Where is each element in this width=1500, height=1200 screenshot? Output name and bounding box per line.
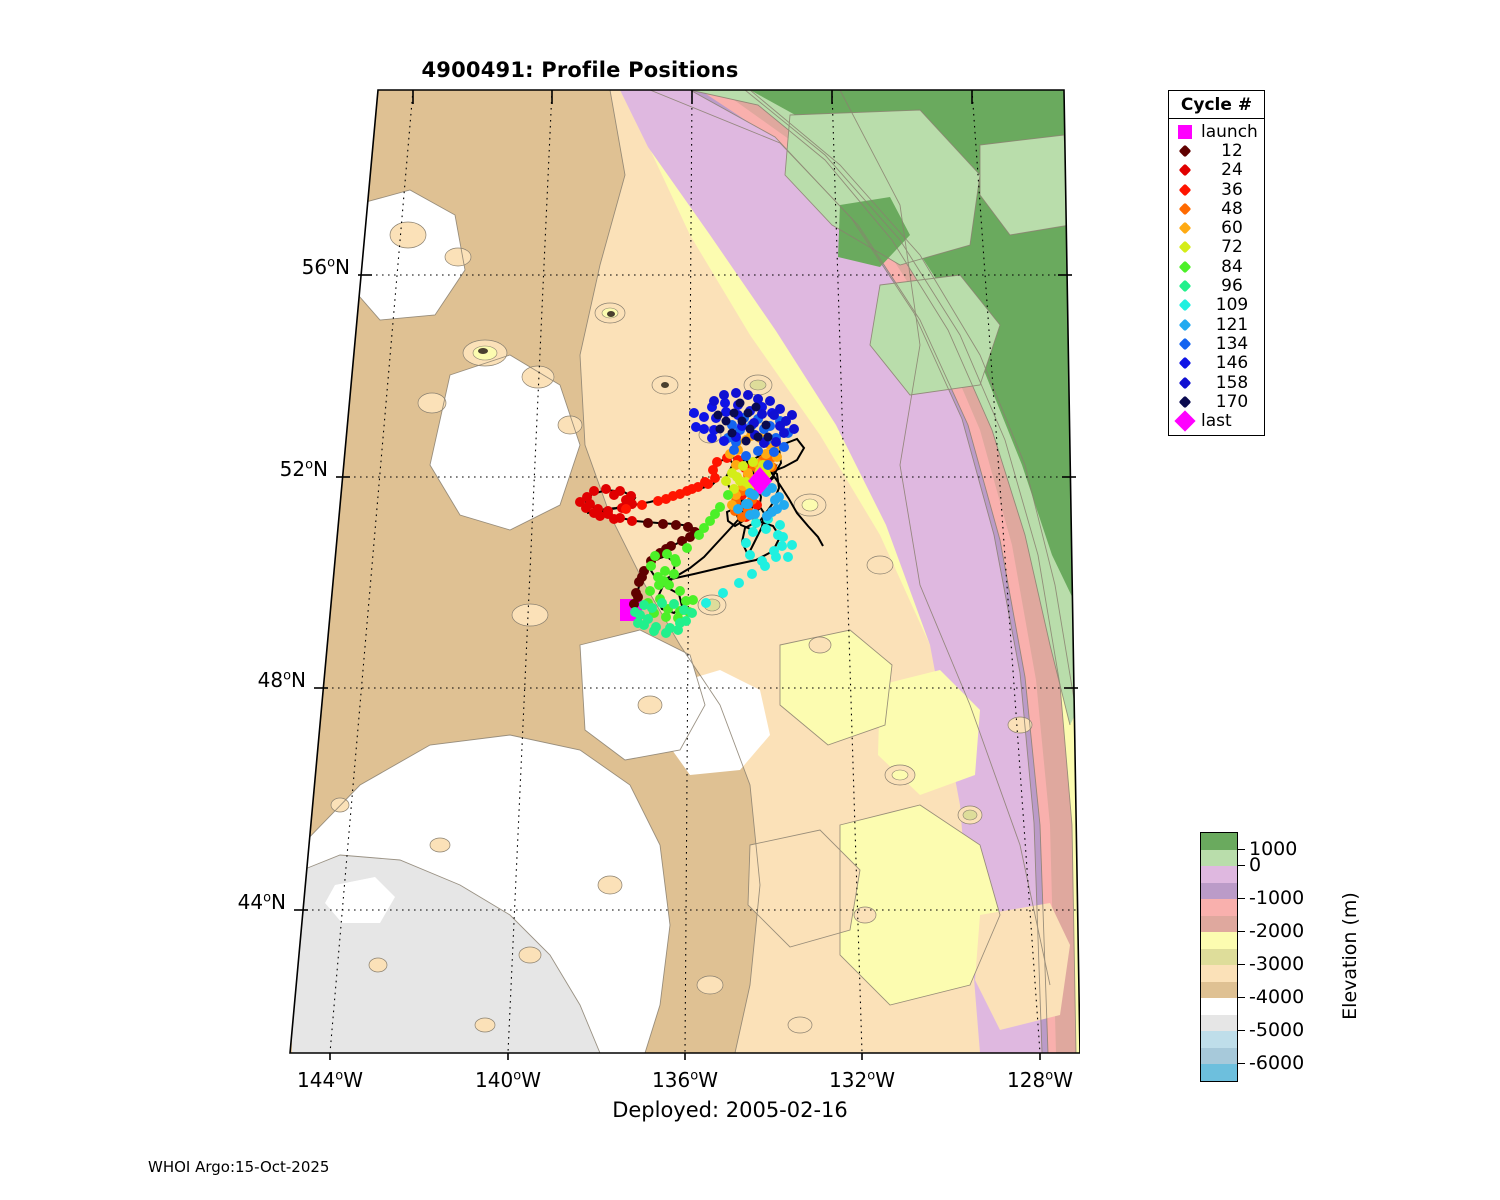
legend-item-84[interactable]: 84 <box>1169 257 1264 276</box>
colorbar-band-9 <box>1201 982 1237 999</box>
legend-label-170: 170 <box>1196 392 1264 412</box>
legend-marker-60 <box>1174 219 1196 238</box>
legend-marker-36 <box>1174 180 1196 199</box>
cycle-legend[interactable]: Cycle # launch12243648607284961091211341… <box>1168 90 1265 436</box>
lon-tick-132: 132oW <box>797 1068 927 1092</box>
legend-label-36: 36 <box>1196 180 1264 200</box>
colorbar-tick--5000 <box>1237 1030 1245 1031</box>
page-title: 4900491: Profile Positions <box>0 58 1160 82</box>
colorbar-band-10 <box>1201 998 1237 1015</box>
map-panel[interactable] <box>280 85 1080 1060</box>
legend-item-48[interactable]: 48 <box>1169 199 1264 218</box>
legend-label-launch: launch <box>1196 122 1264 142</box>
lon-tick-136: 136oW <box>620 1068 750 1092</box>
legend-item-12[interactable]: 12 <box>1169 141 1264 160</box>
colorbar-band-5 <box>1201 916 1237 933</box>
colorbar-tick--2000 <box>1237 931 1245 932</box>
legend-label-121: 121 <box>1196 315 1264 335</box>
lat-tick-48: 48oN <box>156 668 306 692</box>
legend-item-158[interactable]: 158 <box>1169 373 1264 392</box>
colorbar-tick-1000 <box>1237 849 1245 850</box>
credit-label: WHOI Argo:15-Oct-2025 <box>148 1158 329 1176</box>
colorbar-label--3000: -3000 <box>1249 953 1304 975</box>
legend-label-84: 84 <box>1196 257 1264 277</box>
legend-marker-96 <box>1174 277 1196 296</box>
legend-marker-48 <box>1174 199 1196 218</box>
elevation-colorbar[interactable]: 10000-1000-2000-3000-4000-5000-6000 Elev… <box>1200 832 1238 1082</box>
legend-item-96[interactable]: 96 <box>1169 276 1264 295</box>
colorbar-label-0: 0 <box>1249 854 1261 876</box>
colorbar-band-13 <box>1201 1048 1237 1065</box>
colorbar-band-11 <box>1201 1015 1237 1032</box>
colorbar-band-6 <box>1201 932 1237 949</box>
legend-marker-72 <box>1174 238 1196 257</box>
deployed-label: Deployed: 2005-02-16 <box>380 1098 1080 1122</box>
legend-title: Cycle # <box>1169 91 1264 119</box>
lat-tick-52: 52oN <box>178 457 328 481</box>
legend-label-12: 12 <box>1196 141 1264 161</box>
legend-label-72: 72 <box>1196 237 1264 257</box>
legend-marker-146 <box>1174 354 1196 373</box>
colorbar-tick--3000 <box>1237 964 1245 965</box>
legend-label-109: 109 <box>1196 295 1264 315</box>
legend-marker-last <box>1174 412 1196 431</box>
colorbar-band-4 <box>1201 899 1237 916</box>
legend-marker-launch <box>1174 122 1196 141</box>
legend-marker-12 <box>1174 141 1196 160</box>
legend-marker-24 <box>1174 161 1196 180</box>
lon-tick-128: 128oW <box>975 1068 1105 1092</box>
legend-marker-84 <box>1174 257 1196 276</box>
legend-marker-134 <box>1174 334 1196 353</box>
legend-item-72[interactable]: 72 <box>1169 238 1264 257</box>
colorbar-label--2000: -2000 <box>1249 920 1304 942</box>
legend-label-48: 48 <box>1196 199 1264 219</box>
legend-label-96: 96 <box>1196 276 1264 296</box>
colorbar-label--6000: -6000 <box>1249 1052 1304 1074</box>
legend-items: launch1224364860728496109121134146158170… <box>1169 119 1264 435</box>
colorbar-label--5000: -5000 <box>1249 1019 1304 1041</box>
colorbar-band-2 <box>1201 866 1237 883</box>
legend-item-24[interactable]: 24 <box>1169 161 1264 180</box>
colorbar-tick--6000 <box>1237 1063 1245 1064</box>
colorbar-band-7 <box>1201 949 1237 966</box>
colorbar-tick--4000 <box>1237 997 1245 998</box>
colorbar-band-1 <box>1201 850 1237 867</box>
legend-marker-109 <box>1174 296 1196 315</box>
legend-label-60: 60 <box>1196 218 1264 238</box>
legend-marker-170 <box>1174 392 1196 411</box>
colorbar-band-0 <box>1201 833 1237 850</box>
colorbar-axis-title: Elevation (m) <box>1339 892 1361 1020</box>
legend-label-24: 24 <box>1196 160 1264 180</box>
legend-label-134: 134 <box>1196 334 1264 354</box>
colorbar-band-14 <box>1201 1064 1237 1081</box>
legend-item-60[interactable]: 60 <box>1169 218 1264 237</box>
colorbar-band-3 <box>1201 883 1237 900</box>
legend-label-last: last <box>1196 411 1264 431</box>
lon-tick-140: 140oW <box>443 1068 573 1092</box>
legend-label-158: 158 <box>1196 373 1264 393</box>
bathymetry-layer <box>280 85 1080 1060</box>
legend-item-121[interactable]: 121 <box>1169 315 1264 334</box>
lat-tick-44: 44oN <box>136 890 286 914</box>
colorbar-band-8 <box>1201 965 1237 982</box>
legend-item-146[interactable]: 146 <box>1169 354 1264 373</box>
colorbar-label--1000: -1000 <box>1249 887 1304 909</box>
legend-marker-158 <box>1174 373 1196 392</box>
legend-item-last[interactable]: last <box>1169 411 1264 430</box>
colorbar-gradient <box>1200 832 1238 1082</box>
legend-item-launch[interactable]: launch <box>1169 122 1264 141</box>
colorbar-tick--1000 <box>1237 898 1245 899</box>
legend-item-36[interactable]: 36 <box>1169 180 1264 199</box>
colorbar-label--4000: -4000 <box>1249 986 1304 1008</box>
legend-item-170[interactable]: 170 <box>1169 392 1264 411</box>
lon-tick-144: 144oW <box>265 1068 395 1092</box>
colorbar-band-12 <box>1201 1031 1237 1048</box>
legend-item-109[interactable]: 109 <box>1169 296 1264 315</box>
legend-marker-121 <box>1174 315 1196 334</box>
legend-item-134[interactable]: 134 <box>1169 334 1264 353</box>
colorbar-tick-0 <box>1237 865 1245 866</box>
lat-tick-56: 56oN <box>200 255 350 279</box>
legend-label-146: 146 <box>1196 353 1264 373</box>
